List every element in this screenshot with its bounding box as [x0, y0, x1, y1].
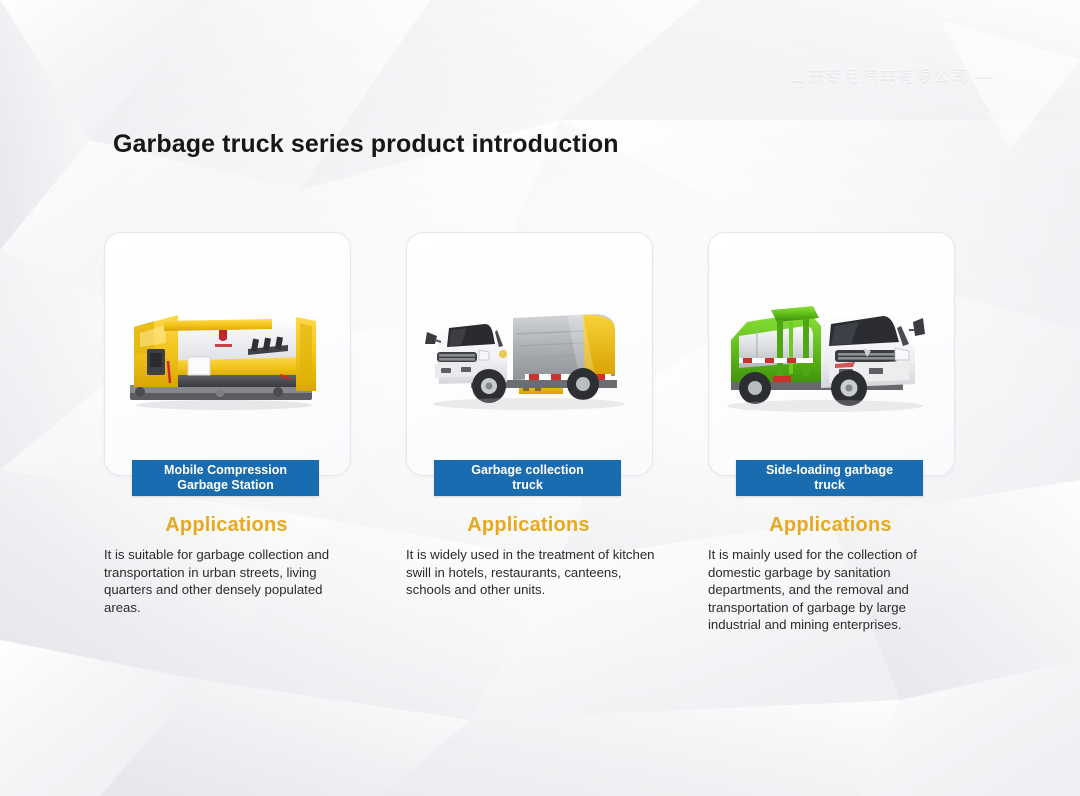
product-card-side-loading[interactable]: Side-loading garbage truck Applications … — [708, 232, 953, 634]
applications-description: It is suitable for garbage collection an… — [104, 546, 336, 616]
company-watermark: 山东专用汽车有限公司 — — [790, 62, 994, 86]
applications-heading: Applications — [104, 514, 349, 537]
brand-logo-mark — [212, 329, 232, 347]
product-badge-label: Side-loading garbage truck — [766, 463, 893, 493]
product-badge[interactable]: Garbage collection truck — [434, 460, 621, 496]
product-photo-card — [406, 232, 653, 476]
product-card-mobile-compression[interactable]: Mobile Compression Garbage Station Appli… — [104, 232, 349, 616]
applications-heading: Applications — [708, 514, 953, 537]
applications-heading: Applications — [406, 514, 651, 537]
product-card-list: Mobile Compression Garbage Station Appli… — [104, 232, 976, 732]
product-photo-card — [708, 232, 955, 476]
product-badge[interactable]: Side-loading garbage truck — [736, 460, 923, 496]
side-loading-garbage-truck-icon — [717, 282, 947, 427]
garbage-collection-truck-icon — [417, 284, 642, 424]
slide-canvas: 山东专用汽车有限公司 — Garbage truck series produc… — [0, 0, 1080, 796]
mobile-compression-garbage-station-icon — [120, 287, 335, 422]
page-title: Garbage truck series product introductio… — [113, 130, 619, 159]
product-card-garbage-collection[interactable]: Garbage collection truck Applications It… — [406, 232, 651, 599]
applications-description: It is mainly used for the collection of … — [708, 546, 940, 634]
product-photo-card — [104, 232, 351, 476]
product-badge[interactable]: Mobile Compression Garbage Station — [132, 460, 319, 496]
product-badge-label: Mobile Compression Garbage Station — [164, 463, 287, 493]
product-badge-label: Garbage collection truck — [471, 463, 584, 493]
applications-description: It is widely used in the treatment of ki… — [406, 546, 662, 599]
